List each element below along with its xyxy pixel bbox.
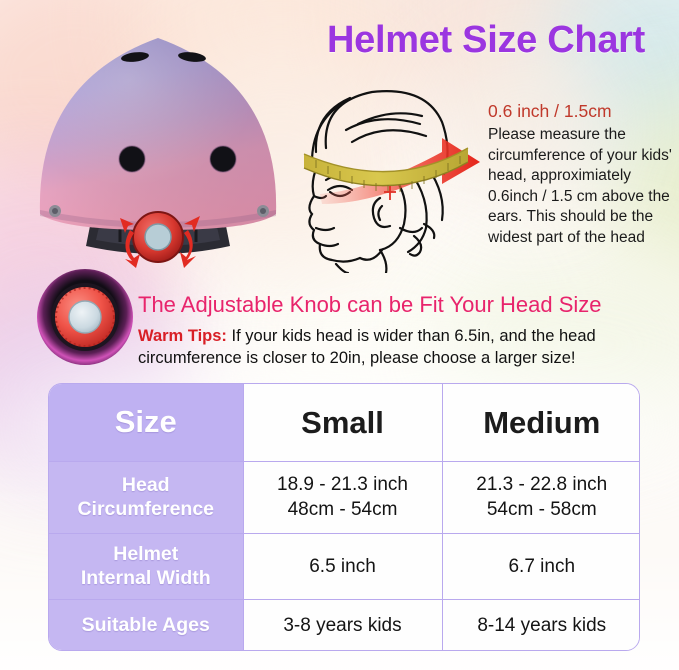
- cell-medium-head-circumference: 21.3 - 22.8 inch 54cm - 58cm: [442, 461, 640, 533]
- header-cell-size: Size: [49, 384, 243, 461]
- head-measure-illustration: [292, 78, 497, 273]
- cell-line2: 48cm - 54cm: [245, 497, 441, 522]
- table-row: Suitable Ages 3-8 years kids 8-14 years …: [49, 599, 640, 651]
- measure-body-text: Please measure the circumference of your…: [488, 125, 678, 248]
- warm-tips: Warm Tips: If your kids head is wider th…: [138, 325, 668, 369]
- table-row: Head Circumference 18.9 - 21.3 inch 48cm…: [49, 461, 640, 533]
- cell-line1: 18.9 - 21.3 inch: [245, 472, 441, 497]
- cell-medium-internal-width: 6.7 inch: [442, 533, 640, 599]
- row-label-line2: Circumference: [50, 497, 242, 521]
- row-label-head-circumference: Head Circumference: [49, 461, 243, 533]
- row-label-helmet-internal-width: Helmet Internal Width: [49, 533, 243, 599]
- row-label-line2: Internal Width: [50, 566, 242, 590]
- warm-tips-label: Warm Tips:: [138, 327, 227, 345]
- measure-instructions: 0.6 inch / 1.5cm Please measure the circ…: [488, 100, 678, 248]
- size-chart-table: Size Small Medium Head Circumference 18.…: [48, 383, 640, 651]
- table-row: Helmet Internal Width 6.5 inch 6.7 inch: [49, 533, 640, 599]
- cell-line1: 21.3 - 22.8 inch: [444, 472, 641, 497]
- helmet-illustration: [24, 18, 292, 268]
- row-label-suitable-ages: Suitable Ages: [49, 599, 243, 651]
- row-label-line1: Head: [50, 473, 242, 497]
- cell-small-internal-width: 6.5 inch: [243, 533, 442, 599]
- header-cell-medium: Medium: [442, 384, 640, 461]
- cell-medium-suitable-ages: 8-14 years kids: [442, 599, 640, 651]
- row-label-line1: Helmet: [50, 542, 242, 566]
- knob-headline: The Adjustable Knob can be Fit Your Head…: [138, 291, 666, 319]
- adjustable-knob-closeup: [36, 268, 134, 366]
- helmet-knob: [133, 212, 183, 262]
- measure-lead-text: 0.6 inch / 1.5cm: [488, 100, 678, 123]
- cell-small-head-circumference: 18.9 - 21.3 inch 48cm - 54cm: [243, 461, 442, 533]
- cell-small-suitable-ages: 3-8 years kids: [243, 599, 442, 651]
- table-header-row: Size Small Medium: [49, 384, 640, 461]
- page-title: Helmet Size Chart: [300, 19, 672, 62]
- header-cell-small: Small: [243, 384, 442, 461]
- cell-line2: 54cm - 58cm: [444, 497, 641, 522]
